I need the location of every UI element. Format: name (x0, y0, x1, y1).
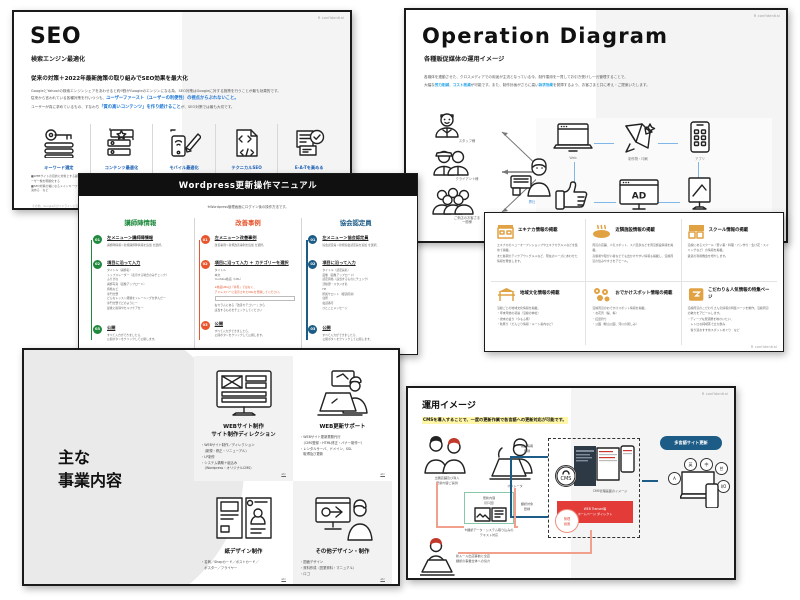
ops-cms-note: CMS管理画面のイメージ (579, 489, 641, 494)
opdia-body-line-2: 大幅な労力削減、コスト削減が可能です。また、制作計画がさらに高い訴求効果を発揮す… (424, 82, 772, 90)
info-card-school[interactable]: スクール情報の掲載 沿線にあるスクール（習い事・料理・パン作り・生け花・スイミン… (682, 219, 777, 282)
laptop-icon (552, 122, 594, 154)
wpm-step-title: 左メニュー＞講師陣情報 (107, 235, 188, 241)
page-title: Operation Diagram (422, 24, 668, 48)
opdia-node-sns[interactable]: SNS (554, 180, 592, 216)
ops-admin-circle-label: 管理 画面 (564, 516, 570, 526)
biz-cell-web-production[interactable]: WEBサイト制作 サイト制作ディレクション ・WEBサイト制作／ディレクション … (194, 356, 293, 481)
wpm-step-warning: ※動画URLは「共有」ではなく、 アドレスバーに表示されたURLを登録してくださ… (215, 285, 296, 294)
confidential-label: R confidential (754, 14, 780, 18)
person-laptop-icon (312, 361, 374, 419)
flowers-icon (592, 287, 611, 302)
ops-pink-arrow-2 (436, 526, 464, 528)
info-card-body: 沿線にあるスクール（習い事・料理・パン作り・生け花・スイミングなど）の情報を掲載… (688, 243, 771, 259)
opdia-center-operator[interactable]: 弊社 (509, 158, 555, 204)
digital-signage-icon (680, 176, 718, 212)
page-title: SEO (30, 24, 81, 49)
seo-lead: 従来の対策＋2022年最新施策の取り組みでSEO効果を最大化 (31, 74, 188, 82)
biz-heading-line-1: 主な (58, 446, 122, 469)
wpm-note: ※Wordpress管理画面にログイン後の操作方法です。 (79, 204, 417, 209)
biz-cell-bullets: ・図面デザイン ・資料作成（営業資料・マニュアル） ・ロゴ (300, 560, 385, 577)
confidential-label: R confidential (318, 16, 344, 20)
staff-person-icon (432, 110, 462, 138)
seo-body-line-1: GoogleとYahoo!の検索エンジンシェアをあわせると約9割がGoogleの… (31, 88, 336, 95)
ops-arrow-bottom-label: 翻訳対象 登録 (512, 502, 542, 512)
opdia-node-print[interactable]: 制作物・印刷 (618, 122, 658, 161)
biz-cell-title-line-2: サイト制作ディレクション (211, 431, 275, 439)
slide-operation-diagram[interactable]: R confidential Operation Diagram 各種販促媒体の… (404, 8, 788, 243)
info-card-title: エキナカ情報の掲載 (518, 228, 558, 234)
print-cards-icon (214, 486, 274, 544)
seo-body-line-3: ユーザーが真に求めているもの、すなわち「質の高いコンテンツ」を作り続けることが、… (31, 104, 336, 113)
ops-green-box: 更新内容 （月1回） (464, 492, 514, 524)
wpm-step-number: 03 (93, 325, 102, 334)
info-card-title: こだわり＆人気情報の特集ページ (708, 288, 771, 301)
smartphone-icon (686, 120, 714, 154)
wpm-step-number: 02 (93, 260, 102, 269)
opdia-person-label: クライアント様 (432, 177, 502, 181)
station-shop-icon (497, 224, 514, 239)
info-card-ekinaka[interactable]: エキナカ情報の掲載 エキナカのニューオープンショップやエキナカグルメなどを集めて… (491, 219, 586, 282)
biz-cell-print-design[interactable]: 紙デザイン制作 ・名刺／Shopカード／ポストカード／ ポスター／フライヤー e… (194, 481, 293, 586)
opdia-node-label: 制作物・印刷 (618, 156, 658, 161)
biz-cell-etc: etc (281, 472, 286, 476)
seo-column-name: テクニカルSEO (219, 165, 275, 171)
biz-cell-title-line-1: WEB更新サポート (319, 423, 365, 431)
biz-cell-title-line-1: その他デザイン・制作 (316, 548, 370, 556)
biz-cell-bullets: ・名刺／Shopカード／ポストカード／ ポスター／フライヤー (201, 560, 286, 572)
shrine-icon (497, 287, 516, 302)
biz-cell-title: WEBサイト制作 サイト制作ディレクション (211, 423, 275, 439)
info-card-body: 周辺の店舗、人気スポット、スパ温泉などを周辺施設情報を掲載。 高齢者や障がい者な… (592, 243, 674, 265)
info-card-header: 近隣施設情報の掲載 (592, 224, 674, 239)
ops-bottom-note: 新ルール出店事前に全店 翻訳の事業全体への協力 (456, 554, 532, 564)
wpm-step[interactable]: 03 公開 すべて入力ができましたら、 公開ボタンをクリックして公開します。 (308, 325, 403, 343)
seo-column-name: コンテンツ最適化 (94, 165, 150, 171)
wpm-step[interactable]: 02 項目に沿って入力 ＋ カテゴリーを選択 タイトル 本文 YouTube動画… (201, 260, 296, 313)
wpm-step-desc: すべて入力ができましたら、 公開ボタンをクリックして公開します。 (322, 333, 403, 343)
server-star-icon (94, 124, 150, 162)
biz-heading-line-2: 事業内容 (58, 469, 122, 492)
info-card-header: スクール情報の掲載 (688, 224, 771, 239)
ops-pink-arrow-6 (590, 530, 592, 554)
seo-column-name: モバイル最適化 (156, 165, 212, 171)
slide-ops-image[interactable]: R confidential 運用イメージ CMSを導入することで、一度の更新作… (406, 386, 736, 580)
ops-multilingual-group: 英 中 한 A I/O (662, 458, 732, 528)
wpm-step-title: 公開 (215, 321, 296, 327)
svg-text:AD: AD (632, 192, 646, 202)
info-card-outing[interactable]: おでかけスポット情報の掲載 沿線周辺のおでかけスポット情報を掲載。 ・お花見（桜… (586, 282, 681, 345)
crowd-icon (432, 187, 474, 215)
confidential-label: R confidential (702, 392, 728, 396)
biz-cell-etc: etc (281, 577, 286, 581)
wpm-step-number: 02 (308, 260, 317, 269)
svg-text:CMS: CMS (561, 476, 572, 482)
info-card-body: エキナカのニューオープンショップやエキナカグルメなどを集めて掲載。 また各駅のテ… (497, 243, 579, 265)
thumbs-up-icon (554, 180, 592, 210)
wpm-step-number: 03 (308, 325, 317, 334)
media-files-icon (474, 507, 508, 523)
ops-pink-arrow-5 (458, 552, 592, 554)
ops-lead: CMSを導入することで、一度の更新作業で各言語への更新対応が可能です。 (422, 417, 568, 424)
hot-spring-icon (592, 224, 611, 239)
wpm-step-number: 03 (201, 321, 210, 330)
ops-arrow-top (510, 456, 548, 458)
ops-arrow-top-label: 掲出情報 登録 (512, 444, 542, 454)
wpm-step-title: 項目に沿って入力 ＋ カテゴリーを選択 (215, 260, 296, 266)
opdia-link (658, 143, 678, 144)
wpm-step[interactable]: 01 左メニュー＞協会認定員 協会認定員＞新規協会認定員を追加 を選択。 (308, 235, 403, 248)
biz-cell-title: 紙デザイン制作 (225, 548, 263, 556)
biz-cell-title-line-1: 紙デザイン制作 (225, 548, 263, 556)
wpm-step-after: 右カラムにある「改善カテゴリー」から 該当するものをチェックしてください (215, 303, 296, 313)
code-file-icon (219, 124, 275, 162)
info-card-header: 地域文化情報の掲載 (497, 287, 579, 302)
slide-wordpress-manual[interactable]: Wordpress更新操作マニュアル ※Wordpress管理画面にログイン後の… (78, 173, 418, 355)
opdia-node-label: Web (552, 156, 594, 160)
ops-green-note: ※翻訳データ・システム取り込みの テキスト対応 (452, 528, 526, 538)
wpm-url-bar-illustration (215, 296, 296, 301)
ops-pink-arrow-3 (514, 488, 516, 526)
info-card-title: スクール情報の掲載 (709, 228, 749, 234)
opdia-link (594, 202, 616, 203)
pen-design-icon (618, 122, 658, 154)
wpm-column-title: 協会認定員 (308, 218, 403, 227)
operator-icon (509, 158, 555, 198)
wpm-header: Wordpress更新操作マニュアル (79, 174, 417, 196)
check-document-icon (281, 124, 337, 162)
wpm-rail (306, 240, 307, 340)
ops-pink-arrow-1 (436, 482, 438, 528)
slide-info-cards[interactable]: R confidential エキナカ情報の掲載 エキナカのニューオープンショッ… (484, 212, 784, 352)
page-subtitle: 各種販促媒体の運用イメージ (424, 54, 504, 63)
wpm-step[interactable]: 02 項目に沿って入力 タイトル（講師名） トップスレーダー（表示する場合のみチ… (93, 260, 188, 311)
info-card-header: こだわり＆人気情報の特集ページ (688, 287, 771, 302)
wpm-column-instructors[interactable]: 講師陣情報 01 左メニュー＞講師陣情報 講師陣情報＞新規講師陣情報を追加 を選… (87, 218, 195, 352)
ops-cms-screens (573, 445, 635, 491)
info-cards-grid: エキナカ情報の掲載 エキナカのニューオープンショップやエキナカグルメなどを集めて… (491, 219, 777, 345)
laptop-phone-icon (680, 470, 724, 508)
wpm-step-title: 項目に沿って入力 (322, 260, 403, 266)
wpm-step-desc: 改善事例＞新規改善事例を追加 を選択。 (215, 243, 296, 248)
wpm-column-title: 改善事例 (201, 218, 296, 227)
biz-cell-other-design[interactable]: その他デザイン・制作 ・図面デザイン ・資料作成（営業資料・マニュアル） ・ロゴ… (293, 481, 392, 586)
biz-cell-bullets: ・WEBサイト更新業務代行 （CMS登録・HTML修正・バナー制作一） ・レンタ… (300, 435, 385, 458)
wireframe-monitor-icon (213, 361, 275, 419)
biz-cell-web-support[interactable]: WEB更新サポート ・WEBサイト更新業務代行 （CMS登録・HTML修正・バナ… (293, 356, 392, 481)
page-subtitle: 検索エンジン最適化 (31, 54, 85, 63)
wpm-step-title: 項目に沿って入力 (107, 260, 188, 266)
confidential-label: R confidential (751, 345, 777, 349)
opdia-link (594, 143, 614, 144)
ops-clients-label: 出展店舗及び導入 更新内容ご提供 (418, 476, 476, 486)
design-monitor-icon (312, 486, 374, 544)
wpm-step-title: 左メニュー＞改善事例 (215, 235, 296, 241)
opdia-node-app[interactable]: アプリ (686, 120, 714, 161)
wpm-step-number: 01 (308, 235, 317, 244)
info-card-title: 地域文化情報の掲載 (520, 291, 560, 297)
opdia-body: 各媒体を連動させた、クロスメディアでの用途が主流となっている今、制作運用を一貫し… (424, 74, 772, 89)
wpm-columns: 講師陣情報 01 左メニュー＞講師陣情報 講師陣情報＞新規講師陣情報を追加 を選… (87, 218, 409, 352)
ops-admin-circle: 管理 画面 (555, 509, 579, 533)
ops-pink-arrow-4 (514, 526, 518, 528)
info-card-header: おでかけスポット情報の掲載 (592, 287, 674, 302)
wpm-step-bullets: タイトル（認定員名） 画像（画像アップロード） 認定資格（該当するものにチェック… (322, 268, 403, 311)
wpm-rail (91, 240, 92, 340)
seo-body-line-2: 従来から言われている各種対策を行いつつも、ユーザーファースト（ユーザーの利便性）… (31, 95, 336, 104)
wpm-step-number: 01 (201, 235, 210, 244)
biz-heading: 主な 事業内容 (58, 446, 122, 492)
slide-collage: R confidential SEO 検索エンジン最適化 従来の対策＋2022年… (0, 0, 800, 600)
info-card-culture[interactable]: 地域文化情報の掲載 沿線ごとの地域文化情報を掲載。 ・年末年始の初詣（沿線の神社… (491, 282, 586, 345)
biz-cell-title: WEB更新サポート (319, 423, 365, 431)
ops-diagram: 出展店舗及び導入 更新内容ご提供 オペレータ 更新内容 （月1回） ※翻訳データ… (416, 430, 728, 572)
wpm-step-desc: すべて入力ができましたら、 公開ボタンをクリックして公開します。 (215, 329, 296, 339)
page-title: 運用イメージ (422, 398, 476, 411)
biz-cell-etc: etc (380, 472, 385, 476)
ops-green-box-label: 更新内容 （月1回） (465, 496, 513, 506)
ops-cms-badge: CMS (555, 465, 577, 487)
ad-monitor-icon: AD (616, 178, 662, 212)
opdia-person-label: スタッフ様 (432, 139, 502, 143)
info-card-body: 沿線周辺のこだわりさん気情報の特集ページを制作。沿線周辺の魅力をアピールします。… (688, 306, 771, 333)
info-card-body: 沿線ごとの地域文化情報を掲載。 ・年末年始の初詣（沿線の神社） ・歳末の盆り（今… (497, 306, 579, 328)
wpm-step[interactable]: 02 項目に沿って入力 タイトル（認定員名） 画像（画像アップロード） 認定資格… (308, 260, 403, 311)
wpm-step-title: 左メニュー＞協会認定員 (322, 235, 403, 241)
biz-cell-title-line-1: WEBサイト制作 (211, 423, 275, 431)
ranking-icon (688, 287, 704, 302)
seo-body: GoogleとYahoo!の検索エンジンシェアをあわせると約9割がGoogleの… (31, 88, 336, 112)
biz-grid: WEBサイト制作 サイト制作ディレクション ・WEBサイト制作／ディレクション … (194, 356, 392, 578)
ops-clients-group[interactable] (422, 436, 470, 474)
wpm-step[interactable]: 03 公開 すべて入力ができましたら、 公開ボタンをクリックして公開します。 (201, 321, 296, 339)
key-icon (31, 124, 87, 162)
info-card-title: おでかけスポット情報の掲載 (615, 291, 672, 297)
opdia-person-clients[interactable]: クライアント様 (432, 148, 502, 181)
wpm-column-cases[interactable]: 改善事例 01 左メニュー＞改善事例 改善事例＞新規改善事例を追加 を選択。 0… (195, 218, 303, 352)
info-card-facilities[interactable]: 近隣施設情報の掲載 周辺の店舗、人気スポット、スパ温泉などを周辺施設情報を掲載。… (586, 219, 681, 282)
ops-pill: 多言語サイト更新 (660, 436, 722, 450)
info-card-ranking[interactable]: こだわり＆人気情報の特集ページ 沿線周辺のこだわりさん気情報の特集ページを制作。… (682, 282, 777, 345)
school-board-icon (688, 224, 705, 239)
wpm-step-number: 02 (201, 260, 210, 269)
info-card-body: 沿線周辺のおでかけスポット情報を掲載。 ・お花見（桜、梅） ・紅葉狩り ・公園（… (592, 306, 674, 328)
wpm-step[interactable]: 03 公開 すべて入力ができましたら、 公開ボタンをクリックして公開します。 (93, 325, 188, 343)
opdia-node-web[interactable]: Web (552, 122, 594, 160)
slide-main-business[interactable]: 主な 事業内容 WEBサイト制作 サイト制作ディレクション ・WEBサイト制作／… (22, 348, 400, 586)
biz-cell-etc: etc (380, 577, 385, 581)
biz-cell-bullets: ・WEBサイト制作／ディレクション （新規・修正・リニューアル） ・LP制作 ・… (201, 443, 286, 472)
biz-cell-title: その他デザイン・制作 (316, 548, 370, 556)
info-card-title: 近隣施設情報の掲載 (615, 228, 655, 234)
wpm-rail (199, 240, 200, 340)
ops-cms-block: CMS CMS管理画面のイメージ WEB Transer等 ホームページ ダイレ… (548, 438, 640, 538)
opdia-body-line-1: 各媒体を連動させた、クロスメディアでの用途が主流となっている今、制作運用を一貫し… (424, 74, 772, 82)
info-card-header: エキナカ情報の掲載 (497, 224, 579, 239)
seo-column-name: キーワード選定 (31, 165, 87, 171)
wpm-step[interactable]: 01 左メニュー＞改善事例 改善事例＞新規改善事例を追加 を選択。 (201, 235, 296, 248)
wpm-column-certified[interactable]: 協会認定員 01 左メニュー＞協会認定員 協会認定員＞新規協会認定員を追加 を選… (302, 218, 409, 352)
opdia-node-label: アプリ (686, 156, 714, 161)
wpm-step-desc: すべて入力ができましたら、 公開ボタンをクリックして公開します。 (107, 333, 188, 343)
ops-arrow-output (642, 480, 658, 482)
wpm-step-bullets: タイトル 本文 YouTube動画（URL） (215, 268, 296, 282)
wpm-step-desc: 協会認定員＞新規協会認定員を追加 を選択。 (322, 243, 403, 248)
wpm-step-bullets: タイトル（講師名） トップスレーダー（表示する場合のみチェック） ふりがな 講師… (107, 268, 188, 311)
wpm-step-number: 01 (93, 235, 102, 244)
seo-column-name: E-A-Tを高める (281, 165, 337, 171)
mobile-pen-icon (156, 124, 212, 162)
wpm-column-title: 講師陣情報 (93, 218, 188, 227)
opdia-person-staff[interactable]: スタッフ様 (432, 110, 502, 143)
opdia-center-label: 弊社 (509, 199, 555, 204)
wpm-step-title: 公開 (107, 325, 188, 331)
wpm-step[interactable]: 01 左メニュー＞講師陣情報 講師陣情報＞新規講師陣情報を追加 を選択。 (93, 235, 188, 248)
wpm-step-desc: 講師陣情報＞新規講師陣情報を追加 を選択。 (107, 243, 188, 248)
two-clients-icon (432, 148, 470, 176)
wpm-step-title: 公開 (322, 325, 403, 331)
